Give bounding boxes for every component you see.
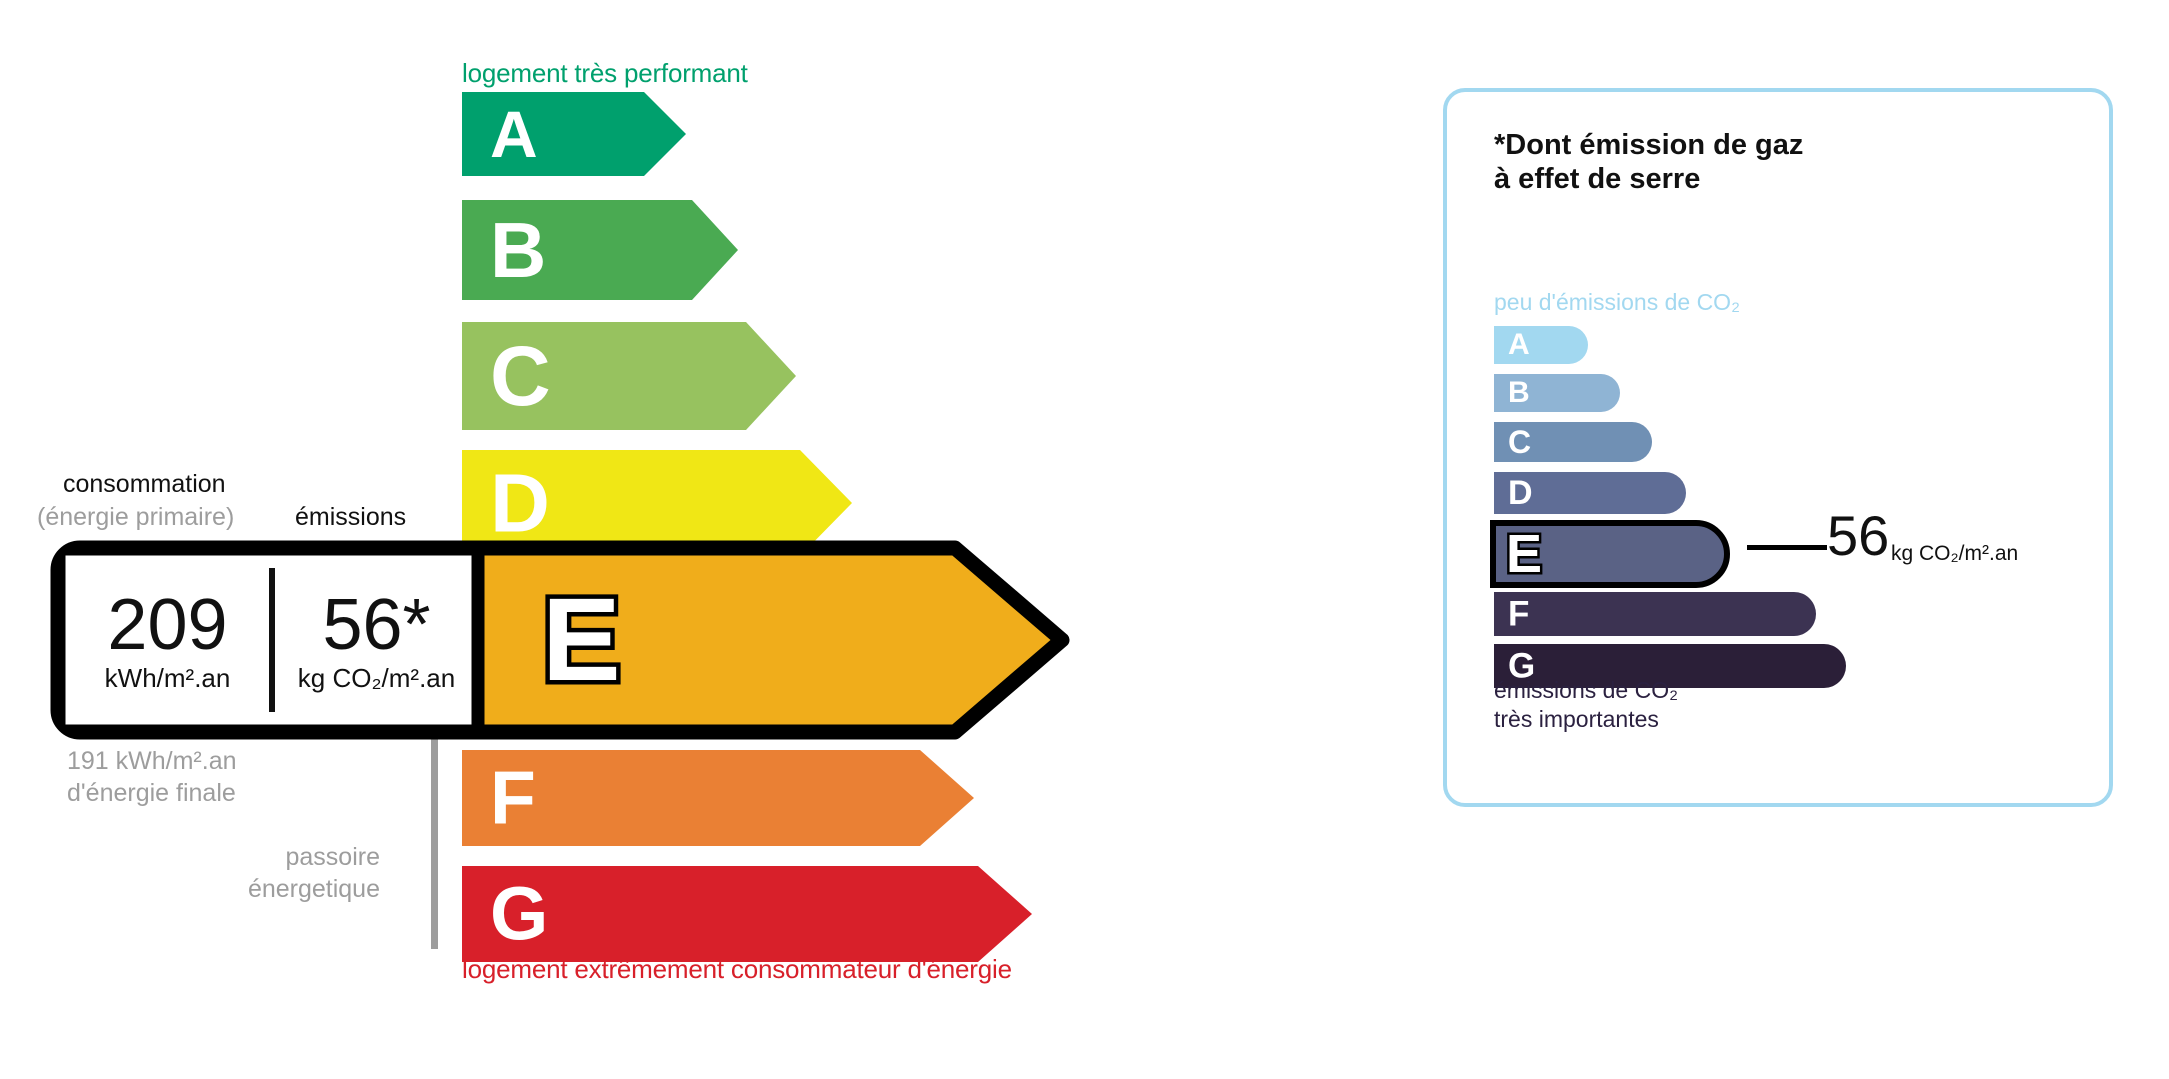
ges-grade-row-B: B [1494,374,1620,412]
ges-callout-value: 56 [1827,508,1889,564]
ges-grade-row-F: F [1494,592,1816,636]
ges-grade-letter-A: A [1508,330,1530,360]
final-energy-label: 191 kWh/m².an d'énergie finale [67,745,237,809]
energy-grade-row-G: G [462,866,1032,962]
energy-grade-row-B: B [462,200,738,300]
energy-grade-row-A: A [462,92,686,176]
passoire-bracket-bar [431,739,438,949]
passoire-energetique-label: passoire énergetique [170,841,380,905]
consumption-sublabel: (énergie primaire) [37,503,234,532]
passoire-line-2: énergetique [170,873,380,905]
ges-grade-row-A: A [1494,326,1588,364]
consumption-label: consommation [63,470,226,499]
ges-bottom-caption-line-1: émissions de CO₂ [1494,676,1678,705]
ges-card-title: *Dont émission de gaz à effet de serre [1494,128,1803,196]
energy-grade-row-E-highlighted: 209 kWh/m².an 56* kg CO₂/m².an E [50,540,1070,740]
ges-emissions-card: *Dont émission de gaz à effet de serre p… [1443,88,2113,807]
ges-callout-unit: kg CO₂/m².an [1891,543,2018,564]
final-energy-line-2: d'énergie finale [67,777,237,809]
ges-callout-leader-line [1747,545,1827,550]
grade-F-arrow-shape [462,750,974,846]
grade-G-arrow-shape [462,866,1032,962]
grade-A-arrow-shape [462,92,686,176]
emission-value-cell: 56* kg CO₂/m².an [275,556,478,724]
energy-scale-bottom-caption: logement extrêmement consommateur d'éner… [462,954,1012,985]
ges-grade-row-D: D [1494,472,1686,514]
ges-top-caption: peu d'émissions de CO₂ [1494,289,1740,316]
consumption-value-cell: 209 kWh/m².an [66,556,269,724]
consumption-value: 209 [107,591,227,660]
energy-consumption-panel: logement très performant ABCDFG 209 kWh/… [0,0,1290,1079]
emission-unit: kg CO₂/m².an [298,662,455,696]
dpe-energy-label: logement très performant ABCDFG 209 kWh/… [0,0,2169,1079]
emissions-label: émissions [295,503,406,532]
ges-grade-letter-F: F [1508,597,1529,632]
ges-title-line-1: *Dont émission de gaz [1494,128,1803,162]
ges-grade-row-E-highlighted: E [1490,520,1730,588]
consumption-unit: kWh/m².an [105,662,231,696]
energy-scale-top-caption: logement très performant [462,58,748,89]
grade-B-arrow-shape [462,200,738,300]
ges-title-line-2: à effet de serre [1494,162,1803,196]
ges-grade-row-C: C [1494,422,1652,462]
energy-grade-letter-E: E [542,581,621,699]
ges-grade-letter-D: D [1508,476,1533,510]
energy-value-box: 209 kWh/m².an 56* kg CO₂/m².an [66,556,478,724]
energy-grade-row-C: C [462,322,796,430]
grade-C-arrow-shape [462,322,796,430]
energy-grade-row-F: F [462,750,974,846]
ges-grade-letter-C: C [1508,426,1531,458]
ges-grade-letter-E: E [1506,527,1542,581]
passoire-line-1: passoire [170,841,380,873]
final-energy-line-1: 191 kWh/m².an [67,745,237,777]
emission-value: 56* [322,591,430,660]
ges-bottom-caption: émissions de CO₂ très importantes [1494,676,1678,734]
ges-bottom-caption-line-2: très importantes [1494,705,1678,734]
ges-grade-letter-B: B [1508,378,1530,408]
